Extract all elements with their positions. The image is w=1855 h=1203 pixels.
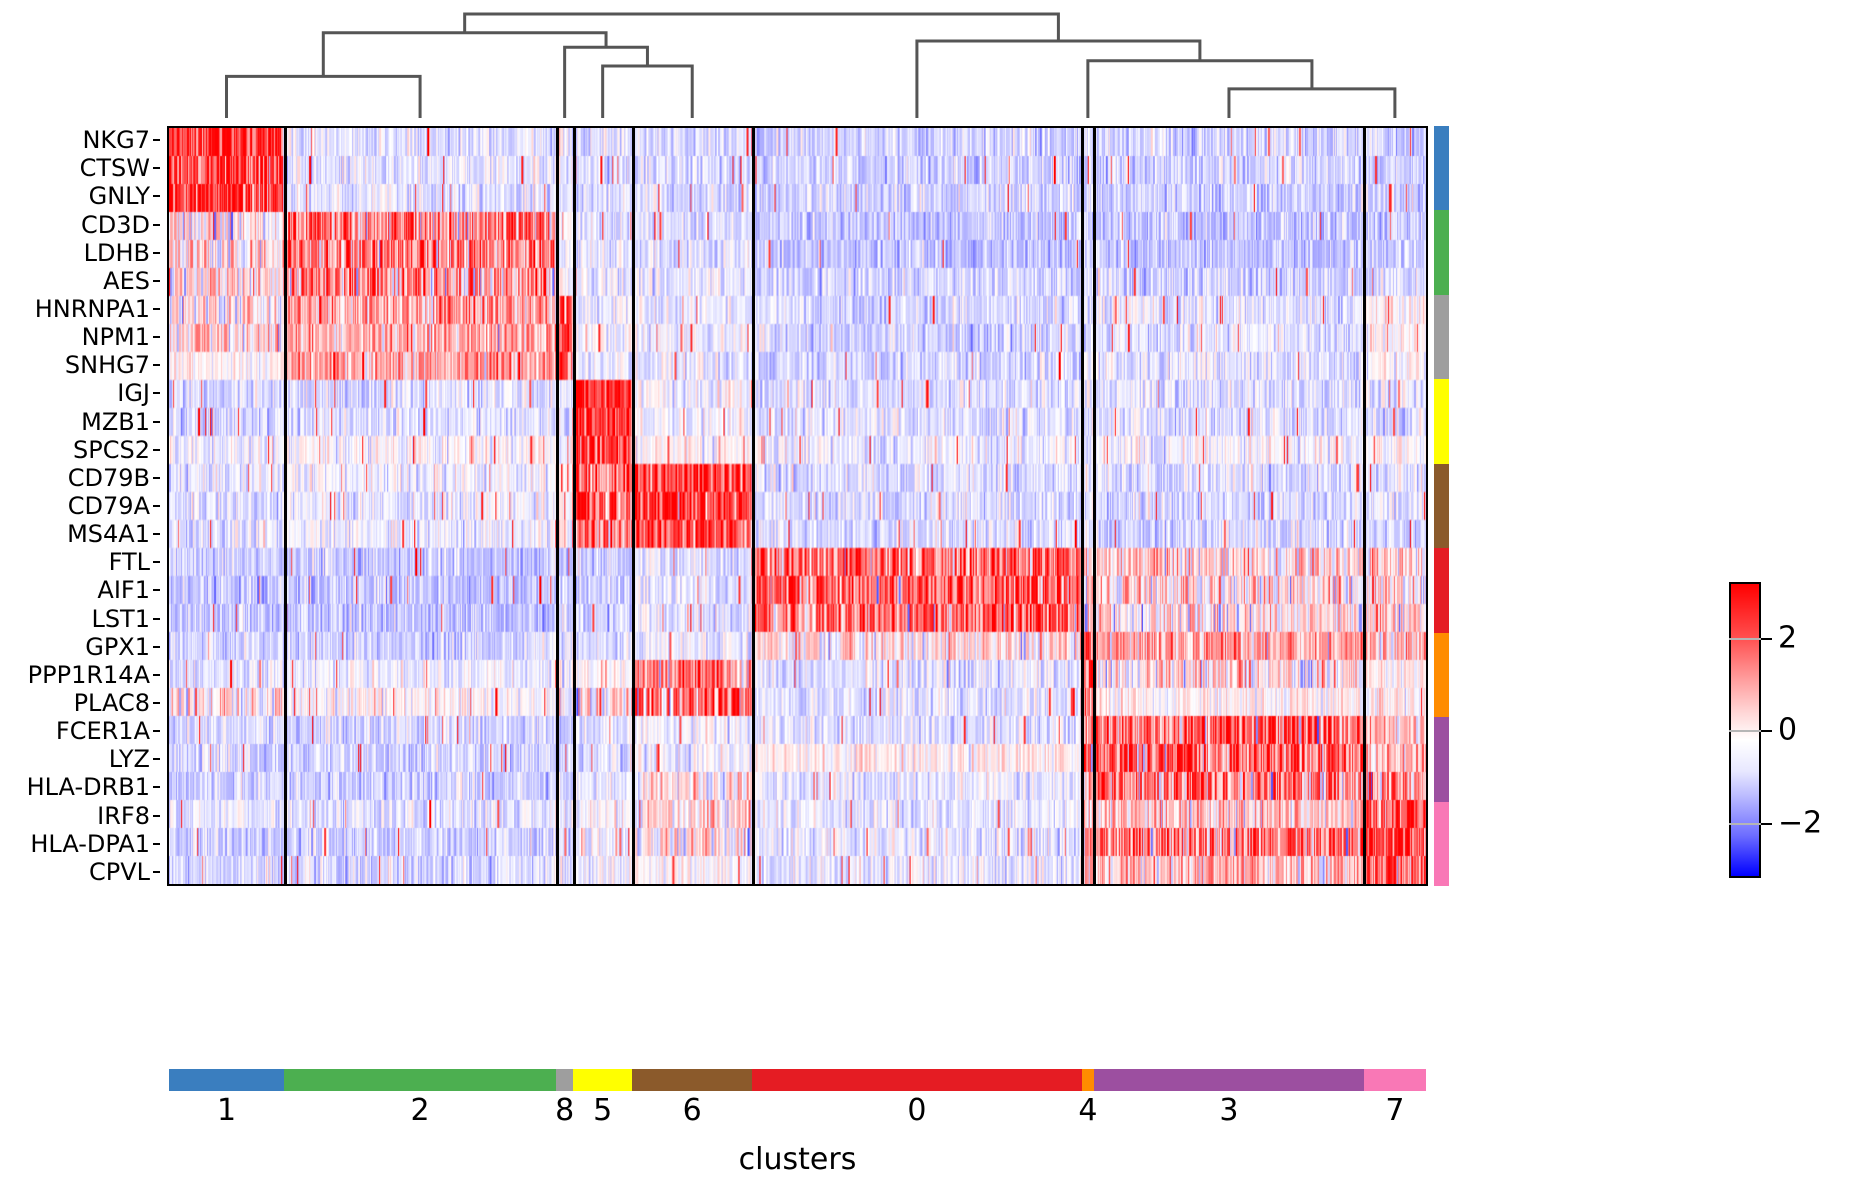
gene-group-swatch-plasma [1434, 379, 1449, 463]
cluster-swatch-3[interactable] [1094, 1069, 1364, 1091]
gene-label-plac8: PLAC8 [74, 691, 150, 715]
gene-tick [153, 843, 160, 845]
gene-group-swatch-dc [1434, 717, 1449, 801]
gene-label-gpx1: GPX1 [85, 635, 150, 659]
gene-group-swatch-cd14 [1434, 633, 1449, 717]
gene-tick [153, 646, 160, 648]
gene-label-hla-dpa1: HLA-DPA1 [30, 832, 150, 856]
gene-label-lst1: LST1 [91, 607, 150, 631]
dendrogram [0, 0, 1855, 122]
colorbar-gridline-0 [1729, 638, 1761, 640]
colorbar-tick-0 [1761, 638, 1772, 640]
gene-tick [153, 167, 160, 169]
gene-label-nkg7: NKG7 [82, 128, 150, 152]
x-axis-title: clusters [169, 1142, 1426, 1177]
cluster-swatch-2[interactable] [284, 1069, 556, 1091]
cluster-tick-labels: 128560437 [169, 1096, 1426, 1140]
gene-group-swatch-T [1434, 210, 1449, 294]
cluster-separator-0 [284, 128, 287, 884]
gene-tick [153, 477, 160, 479]
gene-tick [153, 561, 160, 563]
colorbar-tick-label-1: 0 [1778, 713, 1797, 748]
gene-tick [153, 280, 160, 282]
gene-label-cd3d: CD3D [81, 213, 150, 237]
cluster-label-5: 5 [593, 1096, 612, 1126]
dendrogram-link [227, 76, 421, 118]
gene-tick [153, 618, 160, 620]
cluster-separator-3 [632, 128, 635, 884]
gene-label-ftl: FTL [109, 550, 150, 574]
gene-tick [153, 702, 160, 704]
gene-tick [153, 730, 160, 732]
cluster-swatch-0[interactable] [752, 1069, 1081, 1091]
gene-tick [153, 336, 160, 338]
gene-label-ldhb: LDHB [84, 241, 150, 265]
gene-tick [153, 308, 160, 310]
gene-label-lyz: LYZ [109, 747, 150, 771]
gene-tick [153, 449, 160, 451]
gene-label-hnrnpa1: HNRNPA1 [35, 297, 150, 321]
gene-label-cpvl: CPVL [89, 860, 150, 884]
gene-tick [153, 786, 160, 788]
cluster-separator-4 [752, 128, 755, 884]
gene-label-snhg7: SNHG7 [65, 353, 150, 377]
gene-tick [153, 871, 160, 873]
colorbar-tick-1 [1761, 730, 1772, 732]
colorbar-gridline-1 [1729, 730, 1761, 732]
cluster-separator-2 [573, 128, 576, 884]
gene-label-ctsw: CTSW [80, 156, 150, 180]
heatmap-canvas [169, 128, 1426, 884]
cluster-label-0: 0 [907, 1096, 926, 1126]
cluster-swatch-7[interactable] [1364, 1069, 1426, 1091]
dendrogram-link [565, 47, 648, 118]
gene-tick [153, 533, 160, 535]
cluster-swatch-1[interactable] [169, 1069, 284, 1091]
colorbar-tick-2 [1761, 823, 1772, 825]
cluster-separator-5 [1081, 128, 1084, 884]
gene-tick [153, 758, 160, 760]
cluster-separator-7 [1363, 128, 1366, 884]
cluster-label-3: 3 [1219, 1096, 1238, 1126]
gene-group-swatch-B [1434, 464, 1449, 548]
dendrogram-link [1229, 89, 1395, 118]
gene-label-ms4a1: MS4A1 [67, 522, 150, 546]
cluster-swatch-8[interactable] [556, 1069, 573, 1091]
cluster-colorbar [169, 1069, 1426, 1091]
cluster-swatch-4[interactable] [1082, 1069, 1095, 1091]
gene-tick [153, 674, 160, 676]
gene-tick [153, 421, 160, 423]
gene-label-gnly: GNLY [89, 184, 150, 208]
colorbar-tick-label-2: −2 [1778, 805, 1822, 840]
heatmap-figure: NKG7CTSWGNLYCD3DLDHBAESHNRNPA1NPM1SNHG7I… [0, 0, 1855, 1203]
cluster-label-4: 4 [1078, 1096, 1097, 1126]
dendrogram-link [603, 66, 693, 118]
gene-label-irf8: IRF8 [97, 804, 150, 828]
cluster-separator-1 [556, 128, 559, 884]
gene-group-colorbar [1434, 126, 1449, 886]
gene-label-ppp1r14a: PPP1R14A [28, 663, 150, 687]
gene-group-swatch-pdc [1434, 802, 1449, 886]
gene-tick [153, 252, 160, 254]
gene-tick [153, 392, 160, 394]
gene-label-aes: AES [103, 269, 150, 293]
gene-tick [153, 224, 160, 226]
gene-label-aif1: AIF1 [97, 578, 150, 602]
gene-tick [153, 815, 160, 817]
gene-label-fcer1a: FCER1A [56, 719, 150, 743]
gene-label-cd79a: CD79A [68, 494, 150, 518]
cluster-label-6: 6 [683, 1096, 702, 1126]
gene-label-spcs2: SPCS2 [73, 438, 150, 462]
gene-label-axis: NKG7CTSWGNLYCD3DLDHBAESHNRNPA1NPM1SNHG7I… [0, 126, 160, 886]
dendrogram-link [917, 41, 1200, 118]
cluster-label-7: 7 [1385, 1096, 1404, 1126]
gene-tick [153, 505, 160, 507]
cluster-swatch-5[interactable] [573, 1069, 632, 1091]
dendrogram-link [465, 14, 1059, 41]
heatmap-matrix [167, 126, 1428, 886]
cluster-label-8: 8 [555, 1096, 574, 1126]
gene-group-swatch-T-mem [1434, 295, 1449, 379]
gene-label-igj: IGJ [117, 381, 150, 405]
cluster-label-1: 1 [217, 1096, 236, 1126]
gene-label-cd79b: CD79B [68, 466, 150, 490]
cluster-label-2: 2 [411, 1096, 430, 1126]
gene-label-mzb1: MZB1 [81, 410, 150, 434]
cluster-swatch-6[interactable] [632, 1069, 752, 1091]
colorbar-gridline-2 [1729, 823, 1761, 825]
gene-tick [153, 364, 160, 366]
colorbar-tick-label-0: 2 [1778, 620, 1797, 655]
cluster-separator-6 [1093, 128, 1096, 884]
gene-label-npm1: NPM1 [82, 325, 150, 349]
gene-label-hla-drb1: HLA-DRB1 [27, 775, 150, 799]
gene-tick [153, 589, 160, 591]
gene-group-swatch-mono [1434, 548, 1449, 632]
gene-tick [153, 139, 160, 141]
gene-group-swatch-NK [1434, 126, 1449, 210]
gene-tick [153, 195, 160, 197]
